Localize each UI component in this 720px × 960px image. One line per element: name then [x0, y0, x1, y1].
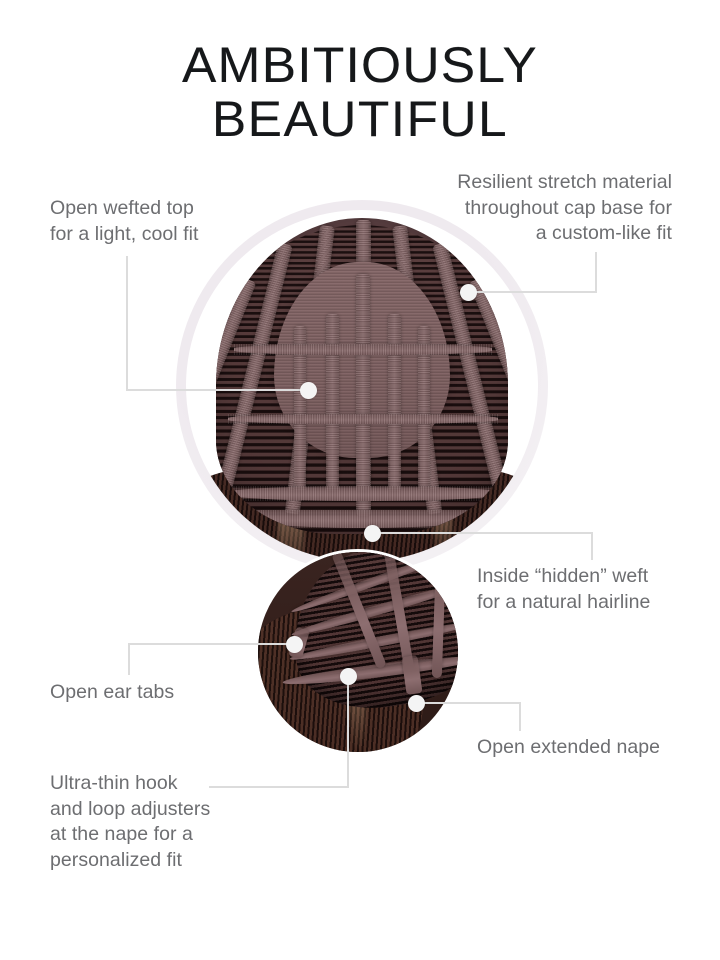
cap-band-hem	[232, 510, 494, 528]
callout-dot-open-ear-tabs[interactable]	[286, 636, 303, 653]
cap-strap-inner	[356, 274, 370, 500]
callout-open-ear-tabs: Open ear tabs	[50, 680, 280, 706]
leader-open-wefted-top-horizontal	[126, 389, 306, 391]
leader-extended-nape-vertical	[519, 702, 521, 731]
wig-cap-nape-detail	[258, 552, 458, 752]
callout-dot-open-wefted-top[interactable]	[300, 382, 317, 399]
callout-inside-hidden-weft: Inside “hidden” weft for a natural hairl…	[477, 564, 687, 615]
leader-hook-loop-horizontal	[209, 786, 349, 788]
cap-band-upper	[234, 344, 492, 355]
leader-hidden-weft-vertical	[591, 532, 593, 560]
title-line-2: BEAUTIFUL	[0, 92, 720, 146]
wig-cap-main-view	[186, 210, 538, 562]
page-title: AMBITIOUSLY BEAUTIFUL	[0, 38, 720, 146]
leader-ear-tabs-horizontal	[128, 643, 296, 645]
callout-dot-open-extended-nape[interactable]	[408, 695, 425, 712]
callout-dot-ultra-thin-hook-and-loop[interactable]	[340, 668, 357, 685]
leader-extended-nape-horizontal	[424, 702, 521, 704]
cap-strap-inner	[326, 314, 339, 498]
leader-ear-tabs-vertical	[128, 643, 130, 675]
poster-canvas: AMBITIOUSLY BEAUTIFUL	[0, 0, 720, 960]
title-line-1: AMBITIOUSLY	[0, 38, 720, 92]
leader-resilient-horizontal	[474, 291, 597, 293]
cap-dome	[216, 218, 508, 534]
callout-dot-resilient-stretch-material[interactable]	[460, 284, 477, 301]
leader-resilient-vertical	[595, 252, 597, 292]
callout-open-wefted-top: Open wefted top for a light, cool fit	[50, 196, 280, 247]
callout-resilient-stretch-material: Resilient stretch material throughout ca…	[400, 170, 672, 247]
leader-hidden-weft-horizontal	[378, 532, 593, 534]
cap-strap-inner	[388, 314, 401, 498]
leader-hook-loop-vertical	[347, 682, 349, 788]
callout-dot-inside-hidden-weft[interactable]	[364, 525, 381, 542]
cap-band-lower	[224, 486, 502, 501]
leader-open-wefted-top-vertical	[126, 256, 128, 390]
cap-band-mid	[228, 414, 498, 424]
callout-open-extended-nape: Open extended nape	[477, 735, 707, 761]
